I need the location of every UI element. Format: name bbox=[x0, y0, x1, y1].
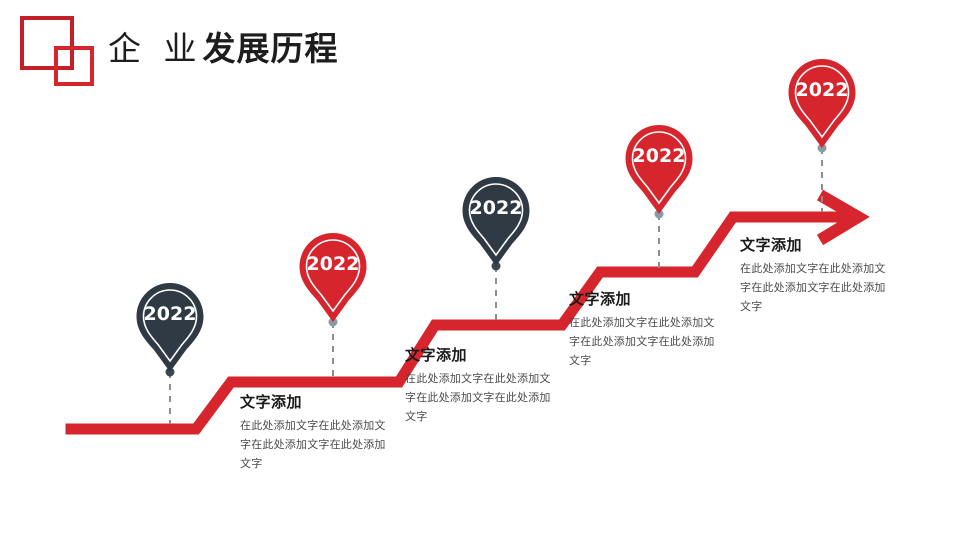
timeline-pin-3[interactable]: 2022 bbox=[458, 173, 534, 271]
block-title-2: 文字添加 bbox=[405, 344, 557, 366]
block-title-1: 文字添加 bbox=[240, 391, 392, 413]
slide-canvas: 企 业发展历程 bbox=[0, 0, 960, 540]
block-title-4: 文字添加 bbox=[740, 234, 892, 256]
block-body-4: 在此处添加文字在此处添加文字在此处添加文字在此处添加文字 bbox=[740, 259, 892, 316]
timeline-text-block-3: 文字添加 在此处添加文字在此处添加文字在此处添加文字在此处添加文字 bbox=[569, 288, 721, 370]
timeline-pin-4[interactable]: 2022 bbox=[621, 121, 697, 219]
timeline-pin-2[interactable]: 2022 bbox=[295, 229, 371, 327]
timeline-pin-5[interactable]: 2022 bbox=[784, 55, 860, 153]
block-body-3: 在此处添加文字在此处添加文字在此处添加文字在此处添加文字 bbox=[569, 313, 721, 370]
block-title-3: 文字添加 bbox=[569, 288, 721, 310]
timeline-text-block-2: 文字添加 在此处添加文字在此处添加文字在此处添加文字在此处添加文字 bbox=[405, 344, 557, 426]
timeline-text-block-1: 文字添加 在此处添加文字在此处添加文字在此处添加文字在此处添加文字 bbox=[240, 391, 392, 473]
block-body-1: 在此处添加文字在此处添加文字在此处添加文字在此处添加文字 bbox=[240, 416, 392, 473]
block-body-2: 在此处添加文字在此处添加文字在此处添加文字在此处添加文字 bbox=[405, 369, 557, 426]
timeline-pin-1[interactable]: 2022 bbox=[132, 279, 208, 377]
timeline-text-block-4: 文字添加 在此处添加文字在此处添加文字在此处添加文字在此处添加文字 bbox=[740, 234, 892, 316]
